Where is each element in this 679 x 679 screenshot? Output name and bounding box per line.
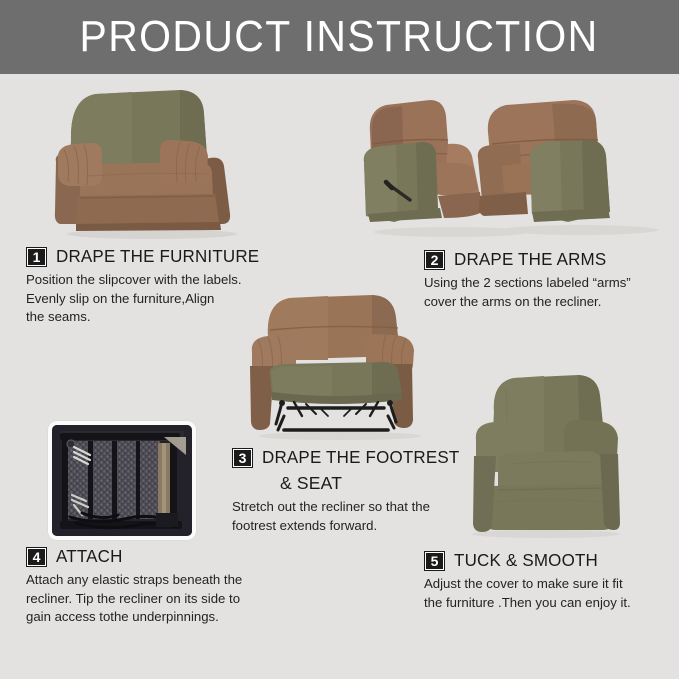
step-5-body: Adjust the cover to make sure it fit the… <box>424 575 679 612</box>
step-4-heading: 4 ATTACH <box>26 546 326 567</box>
step-1-title: DRAPE THE FURNITURE <box>56 246 259 267</box>
step-4-text: 4 ATTACH Attach any elastic straps benea… <box>26 546 326 627</box>
instruction-page: PRODUCT INSTRUCTION <box>0 0 679 679</box>
step-2-illustration <box>352 92 672 244</box>
step-2-title: DRAPE THE ARMS <box>454 249 606 270</box>
step-4-badge: 4 <box>26 547 47 567</box>
step-3-badge: 3 <box>232 448 253 468</box>
step-3-body: Stretch out the recliner so that the foo… <box>232 498 482 535</box>
page-header-band: PRODUCT INSTRUCTION <box>0 0 679 74</box>
step-2-text: 2 DRAPE THE ARMS Using the 2 sections la… <box>424 249 674 311</box>
step-4-photo <box>52 425 192 536</box>
step-5-illustration <box>452 368 642 540</box>
step-4-body: Attach any elastic straps beneath the re… <box>26 571 326 627</box>
step-2-heading: 2 DRAPE THE ARMS <box>424 249 674 270</box>
step-4-photo-frame <box>48 421 196 540</box>
step-1-illustration <box>40 78 270 240</box>
step-5-heading: 5 TUCK & SMOOTH <box>424 550 679 571</box>
page-title: PRODUCT INSTRUCTION <box>80 15 599 59</box>
step-4-title: ATTACH <box>56 546 123 567</box>
step-2-body: Using the 2 sections labeled “arms” cove… <box>424 274 674 311</box>
step-1-heading: 1 DRAPE THE FURNITURE <box>26 246 326 267</box>
step-5-badge: 5 <box>424 551 445 571</box>
step-3-title: DRAPE THE FOOTREST <box>262 447 459 468</box>
step-2-badge: 2 <box>424 250 445 270</box>
step-5-title: TUCK & SMOOTH <box>454 550 598 571</box>
step-3-text: 3 DRAPE THE FOOTREST & SEAT Stretch out … <box>232 447 482 535</box>
step-1-badge: 1 <box>26 247 47 267</box>
step-3-illustration <box>232 290 447 442</box>
step-5-text: 5 TUCK & SMOOTH Adjust the cover to make… <box>424 550 679 612</box>
step-3-heading: 3 DRAPE THE FOOTREST <box>232 447 482 468</box>
